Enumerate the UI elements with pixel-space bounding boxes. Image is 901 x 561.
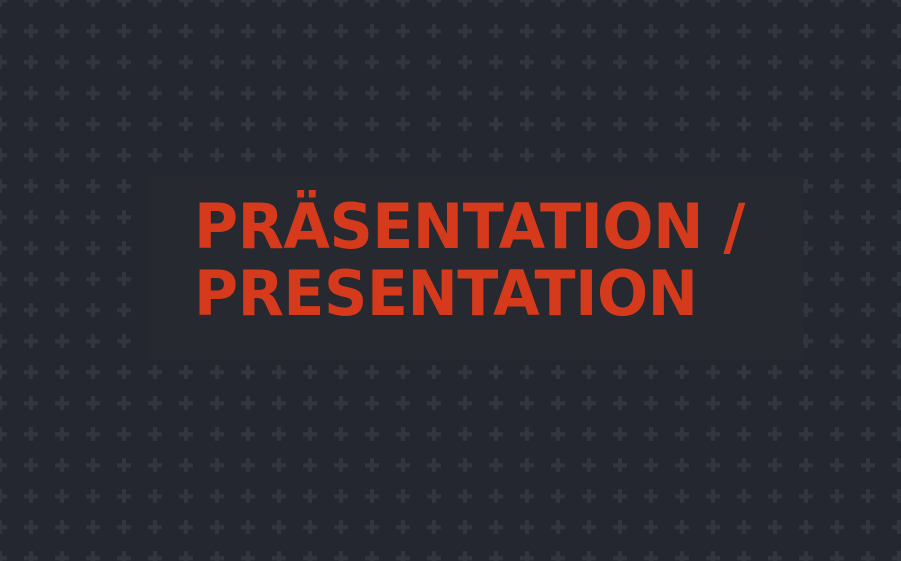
presentation-title-slide: PRÄSENTATION / PRESENTATION: [0, 0, 901, 561]
page-title: PRÄSENTATION / PRESENTATION: [194, 193, 795, 327]
